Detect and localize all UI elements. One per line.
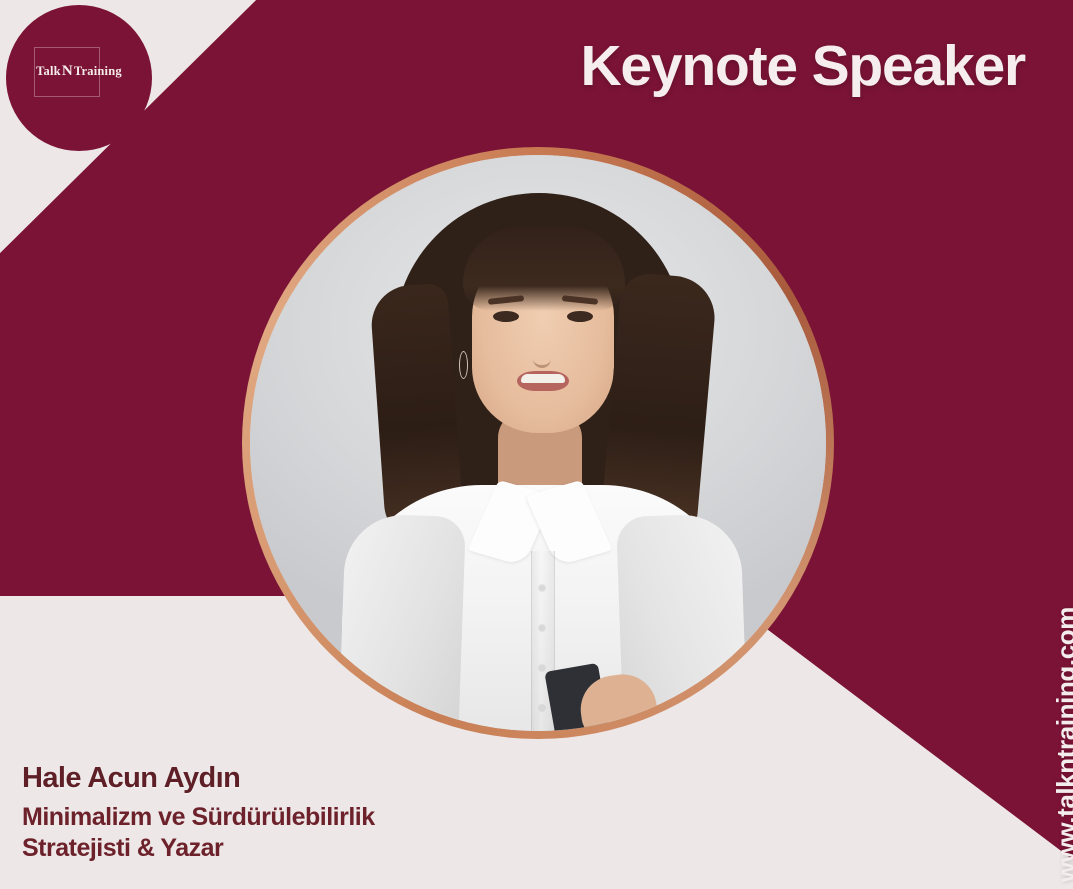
logo-wordmark: TalkNTraining — [6, 63, 152, 80]
portrait-shirt-button — [539, 585, 545, 591]
speaker-name: Hale Acun Aydın — [22, 763, 375, 795]
portrait-nose — [533, 335, 551, 368]
portrait-eye-right — [567, 311, 593, 322]
portrait-eye-left — [493, 311, 519, 322]
portrait-shirt-button — [539, 665, 545, 671]
portrait-teeth — [521, 374, 565, 383]
portrait-shirt-button — [539, 705, 545, 711]
portrait-earring — [459, 351, 468, 379]
portrait-shirt-left-sleeve — [338, 513, 466, 731]
website-url[interactable]: www.talkntraining.com — [1051, 607, 1073, 882]
keynote-speaker-poster: TalkNTraining Keynote Speaker www.talknt… — [0, 0, 1073, 889]
speaker-role: Minimalizm ve Sürdürülebilirlik Strateji… — [22, 802, 375, 863]
portrait-hair-fringe — [463, 227, 625, 311]
speaker-caption: Hale Acun Aydın Minimalizm ve Sürdürüleb… — [22, 763, 375, 863]
logo-word-talk: Talk — [36, 64, 61, 78]
logo-word-training: Training — [74, 64, 122, 78]
brand-logo-badge[interactable]: TalkNTraining — [6, 5, 152, 151]
portrait-mouth — [517, 371, 569, 391]
portrait-photo — [250, 155, 826, 731]
portrait-shirt-button — [539, 625, 545, 631]
logo-monogram-n: N — [61, 63, 74, 79]
speaker-portrait — [250, 155, 826, 731]
headline-keynote-speaker: Keynote Speaker — [580, 38, 1025, 95]
